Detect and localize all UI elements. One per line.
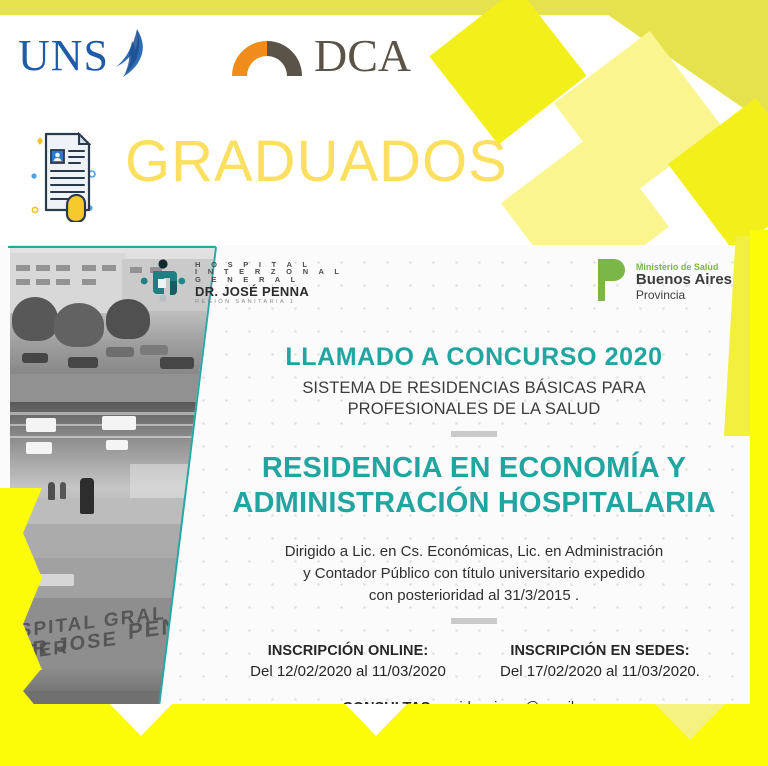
graduados-label: GRADUADOS (125, 128, 508, 195)
subtitle-line-1: SISTEMA DE RESIDENCIAS BÁSICAS PARA (200, 378, 748, 399)
arch-ring-icon (230, 30, 304, 81)
divider-bottom (451, 618, 497, 624)
document-person-icon (20, 124, 120, 222)
inscription-online-heading: INSCRIPCIÓN ONLINE: (243, 643, 453, 659)
hospital-region: REGIÓN SANITARIA 1 (195, 300, 343, 306)
ministerio-line-3: Provincia (636, 289, 732, 302)
title-line-2: ADMINISTRACIÓN HOSPITALARIA (200, 486, 748, 521)
flag-icon (594, 259, 628, 306)
divider-top (451, 431, 497, 437)
hospital-sign-photo: OSPITAL GRAL INTER DR JOSE PEN (10, 558, 215, 715)
inscription-sedes: INSCRIPCIÓN EN SEDES: Del 17/02/2020 al … (495, 643, 705, 680)
sign-line-3: PEN (128, 613, 179, 645)
dca-logo-text: DCA (314, 29, 411, 82)
subtitle-line-2: PROFESIONALES DE LA SALUD (200, 399, 748, 420)
photo-column: OSPITAL GRAL INTER DR JOSE PEN (10, 245, 215, 715)
uns-logo-text: UNS (18, 30, 109, 81)
flame-icon (113, 27, 147, 84)
people-circle-icon (140, 259, 186, 308)
dca-logo: DCA (230, 25, 420, 85)
body-line-2: y Contador Público con título universita… (200, 563, 748, 585)
title-line-1: RESIDENCIA EN ECONOMÍA Y (200, 451, 748, 486)
hospital-logo-words: H O S P I T A L I N T E R Z O N A L G E … (195, 261, 343, 306)
hospital-corridor-photo (10, 402, 215, 559)
uns-logo: UNS (18, 23, 186, 87)
hospital-line-3: G E N E R A L (195, 276, 343, 284)
eyebrow-heading: LLAMADO A CONCURSO 2020 (200, 343, 748, 372)
body-line-1: Dirigido a Lic. en Cs. Económicas, Lic. … (200, 541, 748, 563)
inscription-sedes-dates: Del 17/02/2020 al 11/03/2020. (495, 663, 705, 680)
announcement-card: OSPITAL GRAL INTER DR JOSE PEN (0, 245, 768, 715)
hospital-name: DR. JOSÉ PENNA (195, 285, 343, 298)
right-yellow-strip (750, 230, 768, 730)
body-line-3: con posterioridad al 31/3/2015 . (200, 585, 748, 607)
eligibility-text: Dirigido a Lic. en Cs. Económicas, Lic. … (200, 541, 748, 606)
logo-row: UNS DCA (0, 15, 768, 95)
card-content: H O S P I T A L I N T E R Z O N A L G E … (200, 245, 748, 715)
ministerio-logo: Ministerio de Salud Buenos Aires Provinc… (594, 259, 732, 306)
hospital-logo: H O S P I T A L I N T E R Z O N A L G E … (140, 259, 343, 308)
top-yellow-bar (0, 0, 768, 15)
inscription-online: INSCRIPCIÓN ONLINE: Del 12/02/2020 al 11… (243, 643, 453, 680)
ministerio-line-2: Buenos Aires (636, 272, 732, 289)
poster-canvas: UNS DCA (0, 0, 768, 766)
inscription-sedes-heading: INSCRIPCIÓN EN SEDES: (495, 643, 705, 659)
inscription-online-dates: Del 12/02/2020 al 11/03/2020 (243, 663, 453, 680)
subtitle-block: SISTEMA DE RESIDENCIAS BÁSICAS PARA PROF… (200, 378, 748, 420)
graduados-band: GRADUADOS (0, 110, 470, 235)
page-title: RESIDENCIA EN ECONOMÍA Y ADMINISTRACIÓN … (200, 451, 748, 521)
inscription-row: INSCRIPCIÓN ONLINE: Del 12/02/2020 al 11… (200, 643, 748, 680)
ministerio-words: Ministerio de Salud Buenos Aires Provinc… (636, 262, 732, 302)
